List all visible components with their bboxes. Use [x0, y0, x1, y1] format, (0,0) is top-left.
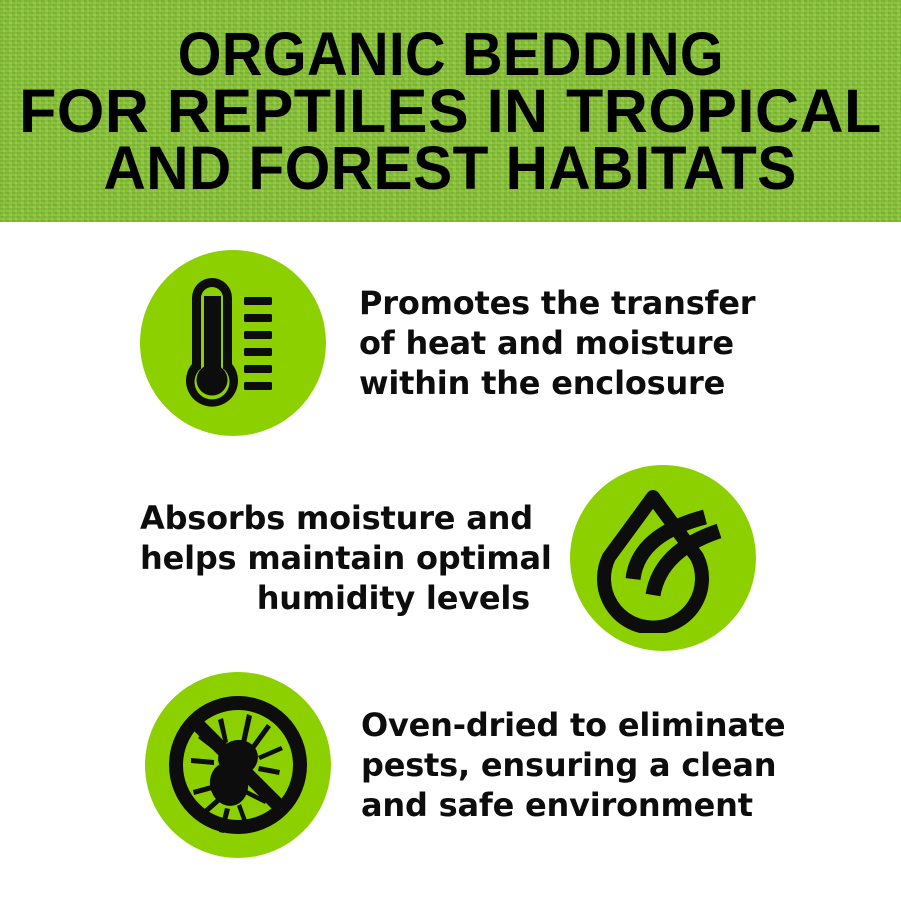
feature-text-oven-dried: Oven-dried to eliminate pests, ensuring … [361, 705, 785, 825]
page-title-line-2: FOR REPTILES IN TROPICAL [19, 83, 882, 140]
page-title-line-1: ORGANIC BEDDING [177, 26, 723, 83]
feature-list: Promotes the transfer of heat and moistu… [0, 222, 901, 908]
no-pest-icon [145, 672, 331, 858]
feature-item-heat-transfer: Promotes the transfer of heat and moistu… [0, 250, 901, 436]
water-drop-icon [570, 465, 756, 651]
feature-item-humidity: Absorbs moisture and helps maintain opti… [0, 465, 901, 651]
feature-line: pests, ensuring a clean [361, 745, 785, 785]
feature-line: Promotes the transfer [359, 283, 755, 323]
feature-line: helps maintain optimal [140, 538, 530, 578]
feature-line: Oven-dried to eliminate [361, 705, 785, 745]
feature-text-humidity: Absorbs moisture and helps maintain opti… [140, 498, 530, 618]
thermometer-icon [140, 250, 326, 436]
feature-line: and safe environment [361, 785, 785, 825]
feature-text-heat-transfer: Promotes the transfer of heat and moistu… [359, 283, 755, 403]
page-title-line-3: AND FOREST HABITATS [104, 140, 797, 197]
infographic-poster: ORGANIC BEDDING FOR REPTILES IN TROPICAL… [0, 0, 901, 908]
feature-line: of heat and moisture [359, 323, 755, 363]
feature-line: within the enclosure [359, 363, 755, 403]
feature-line: humidity levels [140, 578, 530, 618]
feature-item-oven-dried: Oven-dried to eliminate pests, ensuring … [0, 672, 901, 858]
header-banner: ORGANIC BEDDING FOR REPTILES IN TROPICAL… [0, 0, 901, 222]
feature-line: Absorbs moisture and [140, 498, 530, 538]
